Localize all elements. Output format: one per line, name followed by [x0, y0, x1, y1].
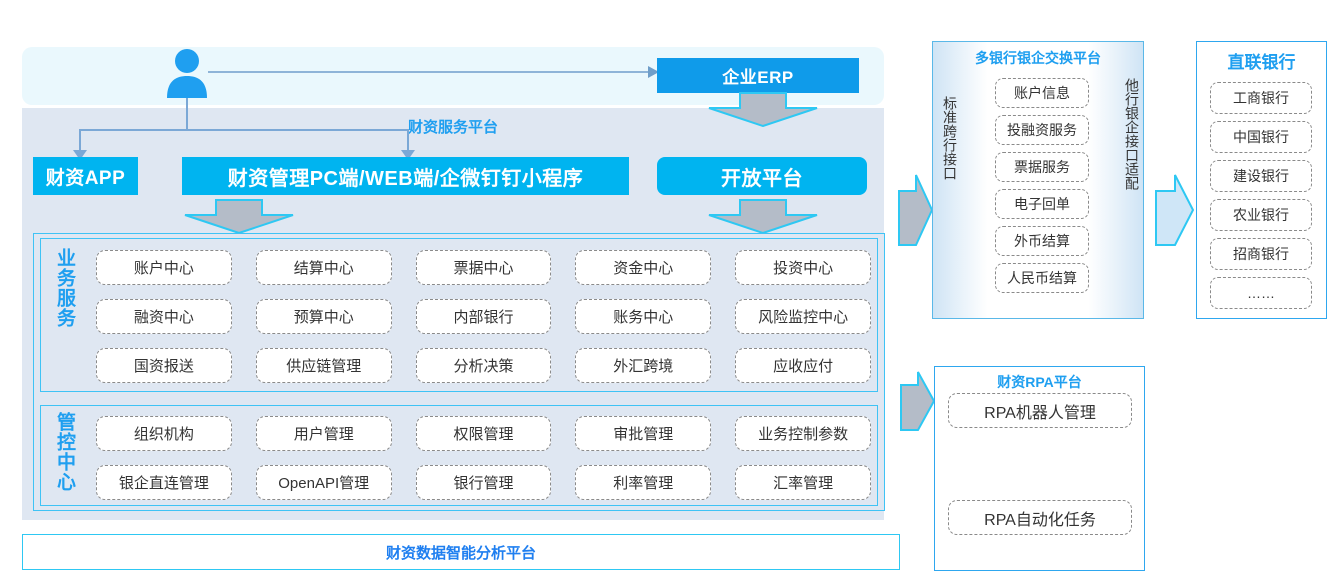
- direct-bank-tile[interactable]: 农业银行: [1210, 199, 1312, 231]
- open-platform-button[interactable]: 开放平台: [657, 157, 867, 195]
- business-service-tile[interactable]: 供应链管理: [256, 348, 392, 383]
- business-service-tile[interactable]: 分析决策: [416, 348, 552, 383]
- analysis-platform-bar: 财资数据智能分析平台: [22, 534, 900, 570]
- direct-banks-list: 工商银行中国银行建设银行农业银行招商银行……: [1210, 82, 1312, 316]
- erp-button[interactable]: 企业ERP: [657, 58, 859, 93]
- right-arrow-to-exchange: [898, 173, 934, 247]
- business-services-label: 业务服务: [55, 248, 74, 384]
- exchange-service-tile[interactable]: 票据服务: [995, 152, 1089, 182]
- control-center-tile[interactable]: 银企直连管理: [96, 465, 232, 500]
- business-service-tile[interactable]: 融资中心: [96, 299, 232, 334]
- down-arrow-erp: [707, 92, 819, 127]
- business-service-tile[interactable]: 预算中心: [256, 299, 392, 334]
- exchange-service-tile[interactable]: 外币结算: [995, 226, 1089, 256]
- business-service-tile[interactable]: 票据中心: [416, 250, 552, 285]
- control-center-tile[interactable]: 用户管理: [256, 416, 392, 451]
- standard-interface-label: 标准跨行接口: [934, 96, 958, 180]
- business-service-tile[interactable]: 账户中心: [96, 250, 232, 285]
- rpa-robot-management-tile[interactable]: RPA机器人管理: [948, 393, 1132, 428]
- branch-horizontal-connector: [79, 129, 409, 131]
- control-center-tile[interactable]: 利率管理: [575, 465, 711, 500]
- direct-bank-tile[interactable]: 建设银行: [1210, 160, 1312, 192]
- exchange-platform-title: 多银行银企交换平台: [932, 48, 1144, 68]
- business-service-tile[interactable]: 资金中心: [575, 250, 711, 285]
- user-trunk-connector: [186, 98, 188, 130]
- down-arrow-app: [183, 199, 295, 234]
- right-arrow-to-rpa: [900, 370, 936, 432]
- control-center-label: 管控中心: [55, 412, 74, 500]
- right-arrow-to-banks: [1155, 173, 1195, 247]
- control-center-tile[interactable]: 汇率管理: [735, 465, 871, 500]
- control-center-tile[interactable]: 权限管理: [416, 416, 552, 451]
- control-center-grid: 组织机构用户管理权限管理审批管理业务控制参数银企直连管理OpenAPI管理银行管…: [96, 416, 871, 500]
- service-platform-title: 财资服务平台: [408, 116, 498, 137]
- rpa-automation-task-tile[interactable]: RPA自动化任务: [948, 500, 1132, 535]
- control-center-tile[interactable]: 组织机构: [96, 416, 232, 451]
- business-service-tile[interactable]: 应收应付: [735, 348, 871, 383]
- exchange-service-tile[interactable]: 人民币结算: [995, 263, 1089, 293]
- control-center-tile[interactable]: 业务控制参数: [735, 416, 871, 451]
- business-service-tile[interactable]: 投资中心: [735, 250, 871, 285]
- other-bank-adapter-label: 他行银企接口适配: [1116, 78, 1140, 190]
- business-service-tile[interactable]: 外汇跨境: [575, 348, 711, 383]
- direct-banks-title: 直联银行: [1196, 48, 1327, 73]
- direct-bank-tile[interactable]: 中国银行: [1210, 121, 1312, 153]
- exchange-platform-list: 账户信息投融资服务票据服务电子回单外币结算人民币结算: [995, 78, 1089, 300]
- user-to-erp-connector: [208, 71, 658, 73]
- business-service-tile[interactable]: 账务中心: [575, 299, 711, 334]
- exchange-service-tile[interactable]: 电子回单: [995, 189, 1089, 219]
- business-services-grid: 账户中心结算中心票据中心资金中心投资中心融资中心预算中心内部银行账务中心风险监控…: [96, 250, 871, 383]
- exchange-service-tile[interactable]: 账户信息: [995, 78, 1089, 108]
- business-service-tile[interactable]: 国资报送: [96, 348, 232, 383]
- exchange-service-tile[interactable]: 投融资服务: [995, 115, 1089, 145]
- business-service-tile[interactable]: 风险监控中心: [735, 299, 871, 334]
- rpa-platform-title: 财资RPA平台: [934, 372, 1145, 392]
- person-icon: [165, 48, 209, 98]
- financial-app-button[interactable]: 财资APP: [33, 157, 138, 195]
- direct-bank-tile[interactable]: 工商银行: [1210, 82, 1312, 114]
- control-center-tile[interactable]: 银行管理: [416, 465, 552, 500]
- direct-bank-tile[interactable]: ……: [1210, 277, 1312, 309]
- financial-pc-web-button[interactable]: 财资管理PC端/WEB端/企微钉钉小程序: [182, 157, 629, 195]
- control-center-tile[interactable]: OpenAPI管理: [256, 465, 392, 500]
- business-service-tile[interactable]: 结算中心: [256, 250, 392, 285]
- down-arrow-open-platform: [707, 199, 819, 234]
- direct-bank-tile[interactable]: 招商银行: [1210, 238, 1312, 270]
- business-service-tile[interactable]: 内部银行: [416, 299, 552, 334]
- control-center-tile[interactable]: 审批管理: [575, 416, 711, 451]
